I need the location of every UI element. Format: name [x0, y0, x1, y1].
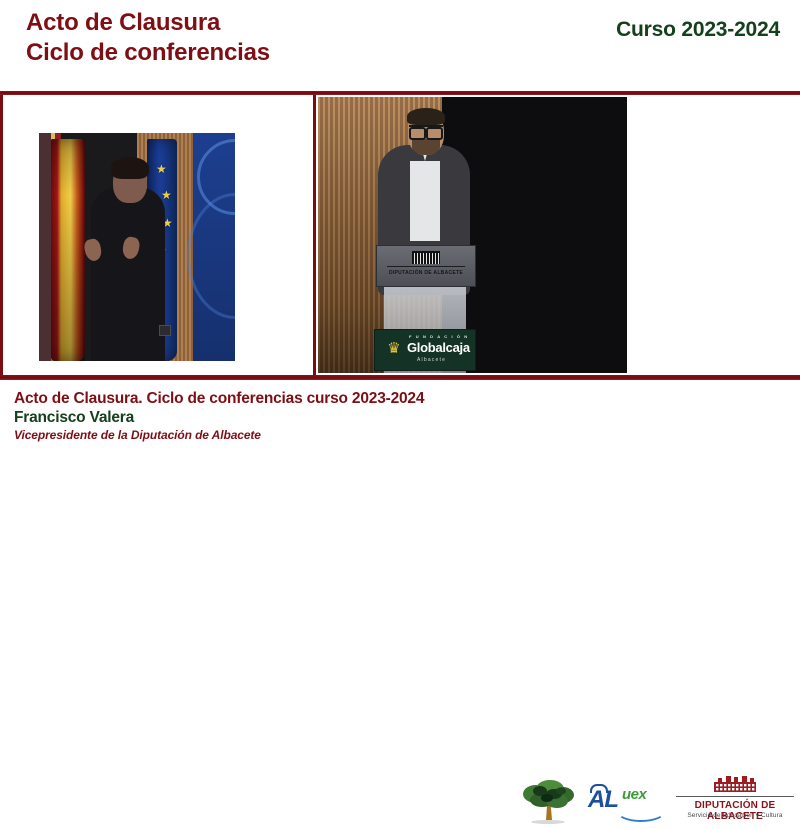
main-speaker-panel[interactable]: DIPUTACIÓN DE ALBACETE ♛ F U N D A C I Ó…: [313, 95, 800, 375]
page-footer: Acto de Clausura. Ciclo de conferencias …: [0, 380, 800, 450]
aluex-logo-al: AL: [588, 788, 618, 812]
sponsor-city: Albacete: [417, 357, 446, 363]
page-title: Acto de Clausura Ciclo de conferencias: [26, 8, 270, 68]
video-stage: ★ ★ ★ ★ ★: [0, 95, 800, 375]
sponsor-sign-globalcaja: ♛ F U N D A C I Ó N Globalcaja Albacete: [374, 329, 476, 371]
interpreter-blue-backdrop: [193, 133, 235, 361]
wall-socket: [159, 325, 171, 336]
diputacion-building-emblem-icon: [712, 776, 758, 794]
page-header: Acto de Clausura Ciclo de conferencias C…: [0, 0, 800, 90]
spain-flag: [51, 139, 85, 361]
diputacion-building-emblem-icon: [412, 251, 440, 264]
page-title-line1: Acto de Clausura: [26, 8, 270, 38]
speaker-beard: [412, 139, 440, 155]
diputacion-logo-subtitle: Servicio de Educación y Cultura: [676, 812, 794, 819]
podium-sign-panel: DIPUTACIÓN DE ALBACETE: [376, 245, 476, 287]
interpreter-hair: [111, 157, 149, 179]
sign-language-interpreter-video[interactable]: ★ ★ ★ ★ ★: [39, 133, 235, 361]
aluex-swoosh-icon: [616, 800, 666, 822]
eu-star-icon: ★: [161, 189, 172, 201]
footer-speaker-name: Francisco Valera: [14, 409, 134, 427]
tree-logo: [516, 776, 580, 824]
eu-star-icon: ★: [156, 163, 167, 175]
main-speaker-video[interactable]: DIPUTACIÓN DE ALBACETE ♛ F U N D A C I Ó…: [318, 97, 627, 373]
diputacion-logo-divider: [676, 796, 794, 797]
footer-event-title: Acto de Clausura. Ciclo de conferencias …: [14, 390, 424, 408]
sponsor-kicker: F U N D A C I Ó N: [409, 334, 469, 339]
page-title-line2: Ciclo de conferencias: [26, 38, 270, 68]
sign-language-interpreter-panel[interactable]: ★ ★ ★ ★ ★: [0, 95, 313, 375]
interpreter-body: [91, 187, 165, 361]
speaker-hair: [407, 108, 445, 125]
speaker-shirt: [410, 149, 440, 241]
eyeglasses-icon: [409, 125, 443, 136]
footer-speaker-role: Vicepresidente de la Diputación de Albac…: [14, 428, 261, 442]
podium-sign-divider: [387, 266, 465, 267]
spain-flag-shading: [51, 139, 85, 361]
globalcaja-crown-icon: ♛: [385, 341, 403, 357]
aluex-logo: AL uex: [586, 780, 666, 822]
diputacion-albacete-logo: DIPUTACIÓN DE ALBACETE Servicio de Educa…: [676, 776, 794, 824]
podium-sign-text: DIPUTACIÓN DE ALBACETE: [377, 270, 475, 276]
course-label: Curso 2023-2024: [616, 18, 780, 42]
sponsor-name: Globalcaja: [407, 340, 470, 355]
